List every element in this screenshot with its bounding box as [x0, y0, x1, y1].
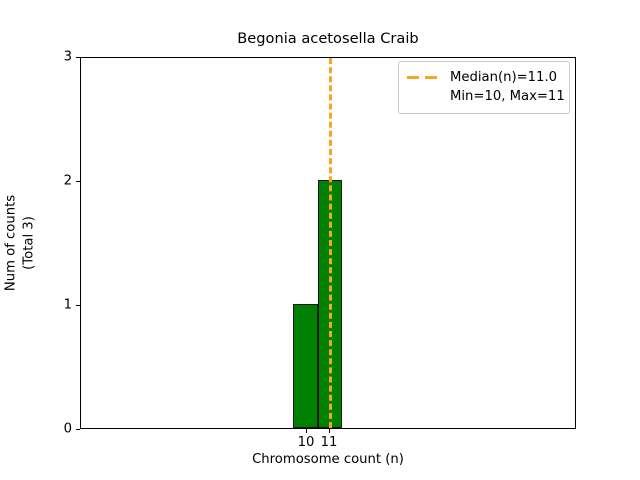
legend-entry-minmax: Min=10, Max=11: [407, 87, 561, 106]
chart-title: Begonia acetosella Craib: [80, 30, 576, 47]
y-axis-label-secondary: (Total 3): [22, 216, 37, 270]
x-axis-label: Chromosome count (n): [80, 452, 576, 467]
y-tick-label-3: 3: [52, 50, 72, 65]
y-tick-label-2: 2: [52, 174, 72, 189]
median-line: [329, 58, 332, 428]
dashed-line-icon: [407, 72, 441, 84]
y-tick-label-1: 1: [52, 298, 72, 313]
bar-count-10: [293, 304, 318, 428]
legend-entry-median: Median(n)=11.0: [407, 68, 561, 87]
x-tick-mark-10: [306, 429, 307, 433]
y-axis-label-group: Num of counts (Total 3): [0, 57, 40, 429]
chart-figure: Begonia acetosella Craib Num of counts (…: [0, 0, 640, 480]
y-tick-mark-0: [76, 429, 80, 430]
legend-label-median: Median(n)=11.0: [450, 70, 557, 85]
x-tick-mark-11: [329, 429, 330, 433]
y-axis-label-primary: Num of counts: [4, 195, 19, 291]
x-tick-label-10: 10: [298, 435, 315, 450]
y-tick-label-0: 0: [52, 422, 72, 437]
legend-label-minmax: Min=10, Max=11: [450, 89, 565, 104]
x-tick-label-11: 11: [321, 435, 338, 450]
legend-box: Median(n)=11.0 Min=10, Max=11: [398, 61, 570, 114]
